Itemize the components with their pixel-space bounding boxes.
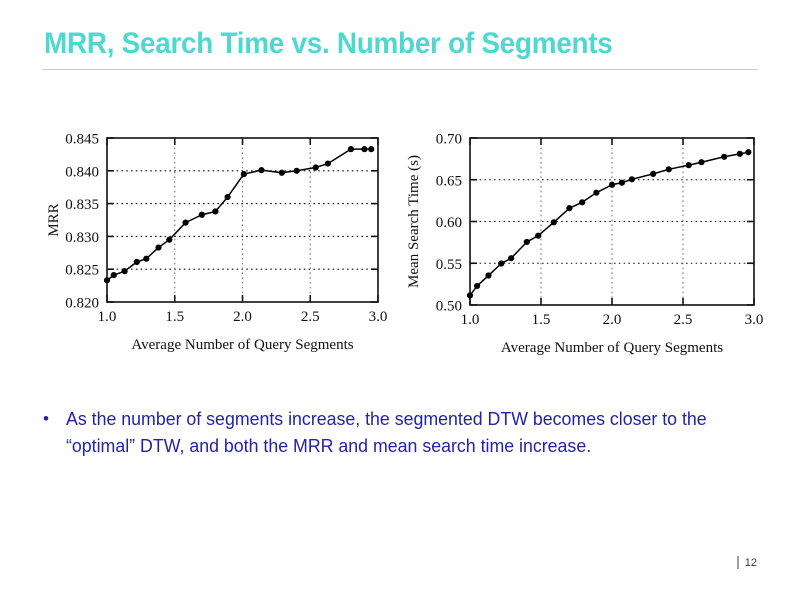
data-point-marker — [474, 283, 480, 289]
data-point-marker — [650, 171, 656, 177]
data-point-marker — [535, 233, 541, 239]
bullet-list: • As the number of segments increase, th… — [38, 405, 768, 459]
data-point-marker — [686, 162, 692, 168]
x-tick-label: 1.0 — [98, 309, 117, 325]
data-point-marker — [294, 168, 300, 174]
data-point-marker — [199, 212, 205, 218]
footer: 12 — [737, 556, 757, 569]
y-axis-title: Mean Search Time (s) — [406, 155, 422, 288]
data-point-marker — [143, 256, 149, 262]
data-point-marker — [609, 182, 615, 188]
x-tick-label: 2.0 — [603, 312, 622, 328]
data-point-marker — [485, 272, 491, 278]
page-number: 12 — [745, 557, 757, 569]
data-point-marker — [579, 199, 585, 205]
x-tick-label: 2.0 — [233, 309, 252, 325]
data-point-marker — [325, 160, 331, 166]
title-divider — [42, 69, 758, 70]
y-tick-label: 0.835 — [65, 197, 99, 213]
data-point-marker — [524, 239, 530, 245]
footer-divider-icon — [737, 556, 739, 569]
chart-search-time-vs-segments: 0.500.550.600.650.701.01.52.02.53.0Avera… — [404, 110, 764, 370]
chart-search-time-svg: 0.500.550.600.650.701.01.52.02.53.0Avera… — [404, 110, 764, 370]
y-tick-label: 0.50 — [436, 299, 462, 315]
data-point-marker — [508, 255, 514, 261]
list-item: • As the number of segments increase, th… — [38, 405, 768, 459]
bullet-text: As the number of segments increase, the … — [66, 405, 740, 459]
x-tick-label: 1.5 — [532, 312, 551, 328]
x-axis-title: Average Number of Query Segments — [501, 340, 723, 356]
data-point-marker — [745, 149, 751, 155]
data-point-marker — [737, 151, 743, 157]
page-title: MRR, Search Time vs. Number of Segments — [44, 27, 704, 61]
data-point-marker — [348, 146, 354, 152]
data-point-marker — [182, 220, 188, 226]
bullet-marker-icon: • — [38, 405, 66, 432]
x-tick-label: 3.0 — [745, 312, 764, 328]
data-point-marker — [721, 154, 727, 160]
x-tick-label: 2.5 — [674, 312, 693, 328]
y-tick-label: 0.65 — [436, 173, 462, 189]
data-point-marker — [104, 277, 110, 283]
data-point-marker — [313, 164, 319, 170]
data-series-line — [470, 152, 748, 295]
data-point-marker — [698, 159, 704, 165]
figure-row: 0.8200.8250.8300.8350.8400.8451.01.52.02… — [0, 110, 800, 370]
data-point-marker — [111, 272, 117, 278]
data-point-marker — [361, 146, 367, 152]
data-point-marker — [241, 171, 247, 177]
data-point-marker — [279, 170, 285, 176]
chart-mrr-vs-segments: 0.8200.8250.8300.8350.8400.8451.01.52.02… — [46, 110, 396, 370]
data-point-marker — [629, 176, 635, 182]
x-axis-title: Average Number of Query Segments — [131, 337, 353, 353]
data-point-marker — [498, 260, 504, 266]
data-point-marker — [212, 208, 218, 214]
data-point-marker — [593, 190, 599, 196]
data-point-marker — [155, 244, 161, 250]
y-tick-label: 0.60 — [436, 215, 462, 231]
y-tick-label: 0.70 — [436, 132, 462, 148]
data-point-marker — [551, 219, 557, 225]
y-tick-label: 0.820 — [65, 296, 99, 312]
data-point-marker — [566, 205, 572, 211]
y-tick-label: 0.840 — [65, 164, 99, 180]
x-tick-label: 2.5 — [301, 309, 320, 325]
y-tick-label: 0.55 — [436, 257, 462, 273]
y-tick-label: 0.825 — [65, 263, 99, 279]
chart-mrr-svg: 0.8200.8250.8300.8350.8400.8451.01.52.02… — [46, 110, 396, 370]
data-point-marker — [619, 180, 625, 186]
data-point-marker — [122, 268, 128, 274]
y-tick-label: 0.830 — [65, 230, 99, 246]
x-tick-label: 1.0 — [461, 312, 480, 328]
data-point-marker — [666, 166, 672, 172]
data-point-marker — [166, 237, 172, 243]
y-axis-title: MRR — [46, 203, 62, 236]
x-tick-label: 1.5 — [165, 309, 184, 325]
data-point-marker — [224, 194, 230, 200]
x-tick-label: 3.0 — [369, 309, 388, 325]
y-tick-label: 0.845 — [65, 132, 99, 148]
data-point-marker — [258, 167, 264, 173]
data-point-marker — [134, 259, 140, 265]
data-point-marker — [467, 292, 473, 298]
data-point-marker — [368, 146, 374, 152]
